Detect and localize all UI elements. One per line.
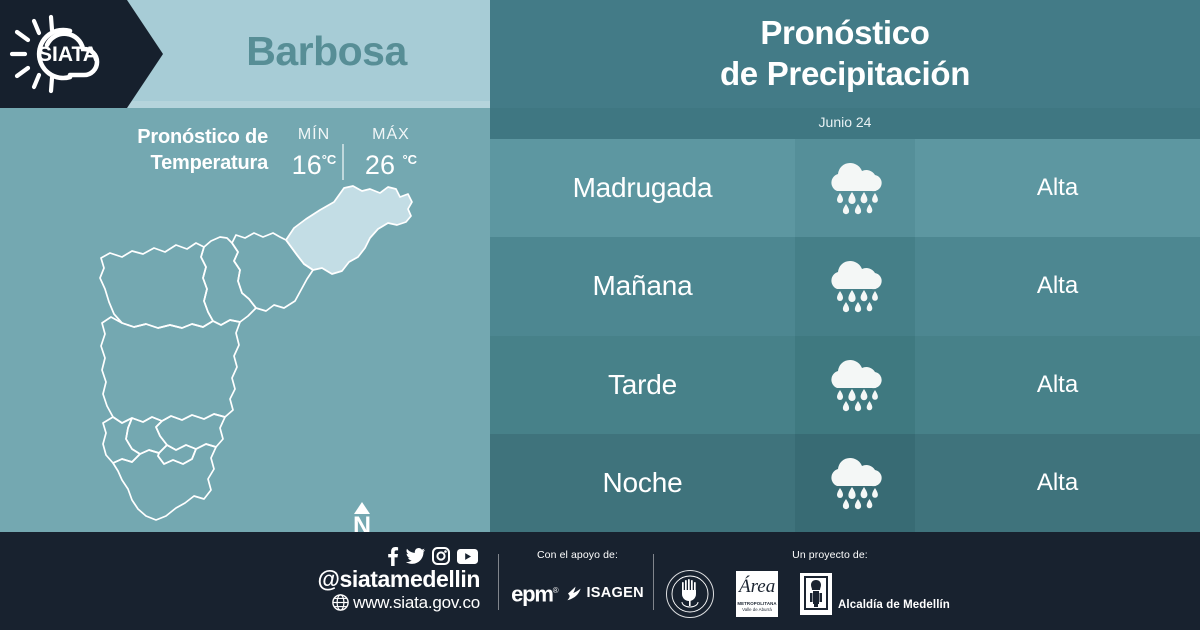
map-svg	[70, 175, 440, 530]
temperature-max-value-group: 26 °C	[355, 145, 427, 180]
website-url: www.siata.gov.co	[353, 592, 480, 613]
map-region-la-estrella	[103, 417, 140, 463]
row-icon-cell	[795, 139, 915, 237]
right-panel: Pronóstico de Precipitación Junio 24 Mad…	[490, 0, 1200, 532]
weather-forecast-poster: SIATA Barbosa Pronóstico de Temperatura …	[0, 0, 1200, 630]
row-period-label: Noche	[490, 434, 795, 532]
area-logo-script: Área	[739, 577, 775, 597]
row-icon-cell	[795, 336, 915, 434]
support-group: Con el apoyo de: epm® ISAGEN	[505, 548, 650, 610]
page-title: Barbosa	[163, 0, 490, 103]
temperature-min-value-group: 16°C	[278, 145, 350, 180]
rain-cloud-icon	[824, 356, 886, 414]
rain-cloud-icon	[824, 454, 886, 512]
siata-logo-text: SIATA	[38, 43, 98, 66]
alcaldia-emblem-icon	[800, 573, 832, 615]
globe-icon	[332, 594, 349, 611]
left-panel: SIATA Barbosa Pronóstico de Temperatura …	[0, 0, 490, 532]
website-row[interactable]: www.siata.gov.co	[200, 592, 480, 613]
project-group: Un proyecto de:	[660, 548, 1180, 620]
precipitation-rows: Madrugada	[490, 139, 1200, 532]
alcaldia-de-medellin-logo[interactable]: Alcaldía de Medellín	[800, 573, 950, 615]
twitter-icon[interactable]	[406, 548, 425, 565]
social-block: @siatamedellin www.siata.gov.co	[200, 546, 480, 613]
temperature-max: MÁX 26 °C	[355, 125, 427, 180]
footer: @siatamedellin www.siata.gov.co Con el a…	[0, 532, 1200, 630]
table-row[interactable]: Mañana	[490, 237, 1200, 335]
support-logos-row: epm® ISAGEN	[505, 576, 650, 610]
row-level-label: Alta	[915, 237, 1200, 335]
map-region-caldas	[113, 444, 216, 520]
row-icon-cell	[795, 237, 915, 335]
row-level-label: Alta	[915, 434, 1200, 532]
isagen-mark-icon	[567, 586, 583, 601]
sun-cloud-icon: SIATA	[8, 14, 132, 94]
instagram-icon[interactable]	[432, 547, 450, 565]
map-region-barbosa	[286, 186, 412, 274]
temperature-forecast-block: Pronóstico de Temperatura MÍN 16°C MÁX 2…	[78, 124, 418, 184]
precipitation-title: Pronóstico de Precipitación	[490, 12, 1200, 94]
temperature-min-unit: °C	[322, 152, 337, 167]
table-row[interactable]: Tarde	[490, 336, 1200, 434]
temperature-title: Pronóstico de Temperatura	[78, 124, 268, 176]
temperature-title-line2: Temperatura	[151, 152, 268, 174]
table-row[interactable]: Madrugada	[490, 139, 1200, 237]
aburra-valley-map[interactable]: N	[70, 175, 440, 530]
compass-label: N	[347, 513, 377, 532]
row-level-label: Alta	[915, 336, 1200, 434]
epm-logo[interactable]: epm®	[511, 580, 557, 605]
rain-cloud-icon	[824, 257, 886, 315]
alcaldia-logo-text: Alcaldía de Medellín	[838, 599, 950, 615]
social-icons-row	[200, 546, 480, 566]
temperature-min-label: MÍN	[278, 125, 350, 145]
area-metropolitana-logo[interactable]: Área METROPOLITANA Valle de Aburrá	[736, 571, 778, 617]
isagen-logo-text: ISAGEN	[586, 586, 643, 601]
precipitation-title-line2: de Precipitación	[720, 55, 970, 92]
udea-seal-icon	[667, 571, 713, 617]
row-period-label: Madrugada	[490, 139, 795, 237]
alcaldia-emblem-svg	[800, 573, 832, 615]
temperature-min-value: 16	[292, 150, 322, 180]
precipitation-title-line1: Pronóstico	[760, 14, 929, 51]
isagen-logo[interactable]: ISAGEN	[567, 586, 643, 601]
forecast-date: Junio 24	[490, 111, 1200, 133]
temperature-max-unit: °C	[402, 152, 417, 167]
temperature-min: MÍN 16°C	[278, 125, 350, 180]
map-region-medellin	[101, 317, 240, 423]
row-icon-cell	[795, 434, 915, 532]
area-logo-sub2: Valle de Aburrá	[736, 607, 778, 613]
rain-cloud-icon	[824, 159, 886, 217]
facebook-icon[interactable]	[387, 547, 399, 566]
youtube-icon[interactable]	[457, 549, 478, 564]
project-caption: Un proyecto de:	[700, 548, 960, 562]
epm-logo-text: epm	[511, 582, 553, 607]
epm-registered-mark: ®	[553, 586, 558, 595]
footer-divider-1	[498, 554, 499, 610]
temperature-title-line1: Pronóstico de	[137, 126, 268, 148]
project-logos-row: Área METROPOLITANA Valle de Aburrá	[660, 568, 1180, 620]
temperature-max-label: MÁX	[355, 125, 427, 145]
row-level-label: Alta	[915, 139, 1200, 237]
social-handle[interactable]: @siatamedellin	[200, 567, 480, 592]
footer-divider-2	[653, 554, 654, 610]
row-period-label: Tarde	[490, 336, 795, 434]
map-region-bello	[100, 243, 213, 328]
universidad-de-antioquia-logo[interactable]	[666, 570, 714, 618]
temperature-max-value: 26	[365, 150, 395, 180]
support-caption: Con el apoyo de:	[505, 548, 650, 562]
table-row[interactable]: Noche	[490, 434, 1200, 532]
row-period-label: Mañana	[490, 237, 795, 335]
compass-north-indicator: N	[347, 502, 377, 532]
map-region-copacabana	[201, 237, 256, 325]
